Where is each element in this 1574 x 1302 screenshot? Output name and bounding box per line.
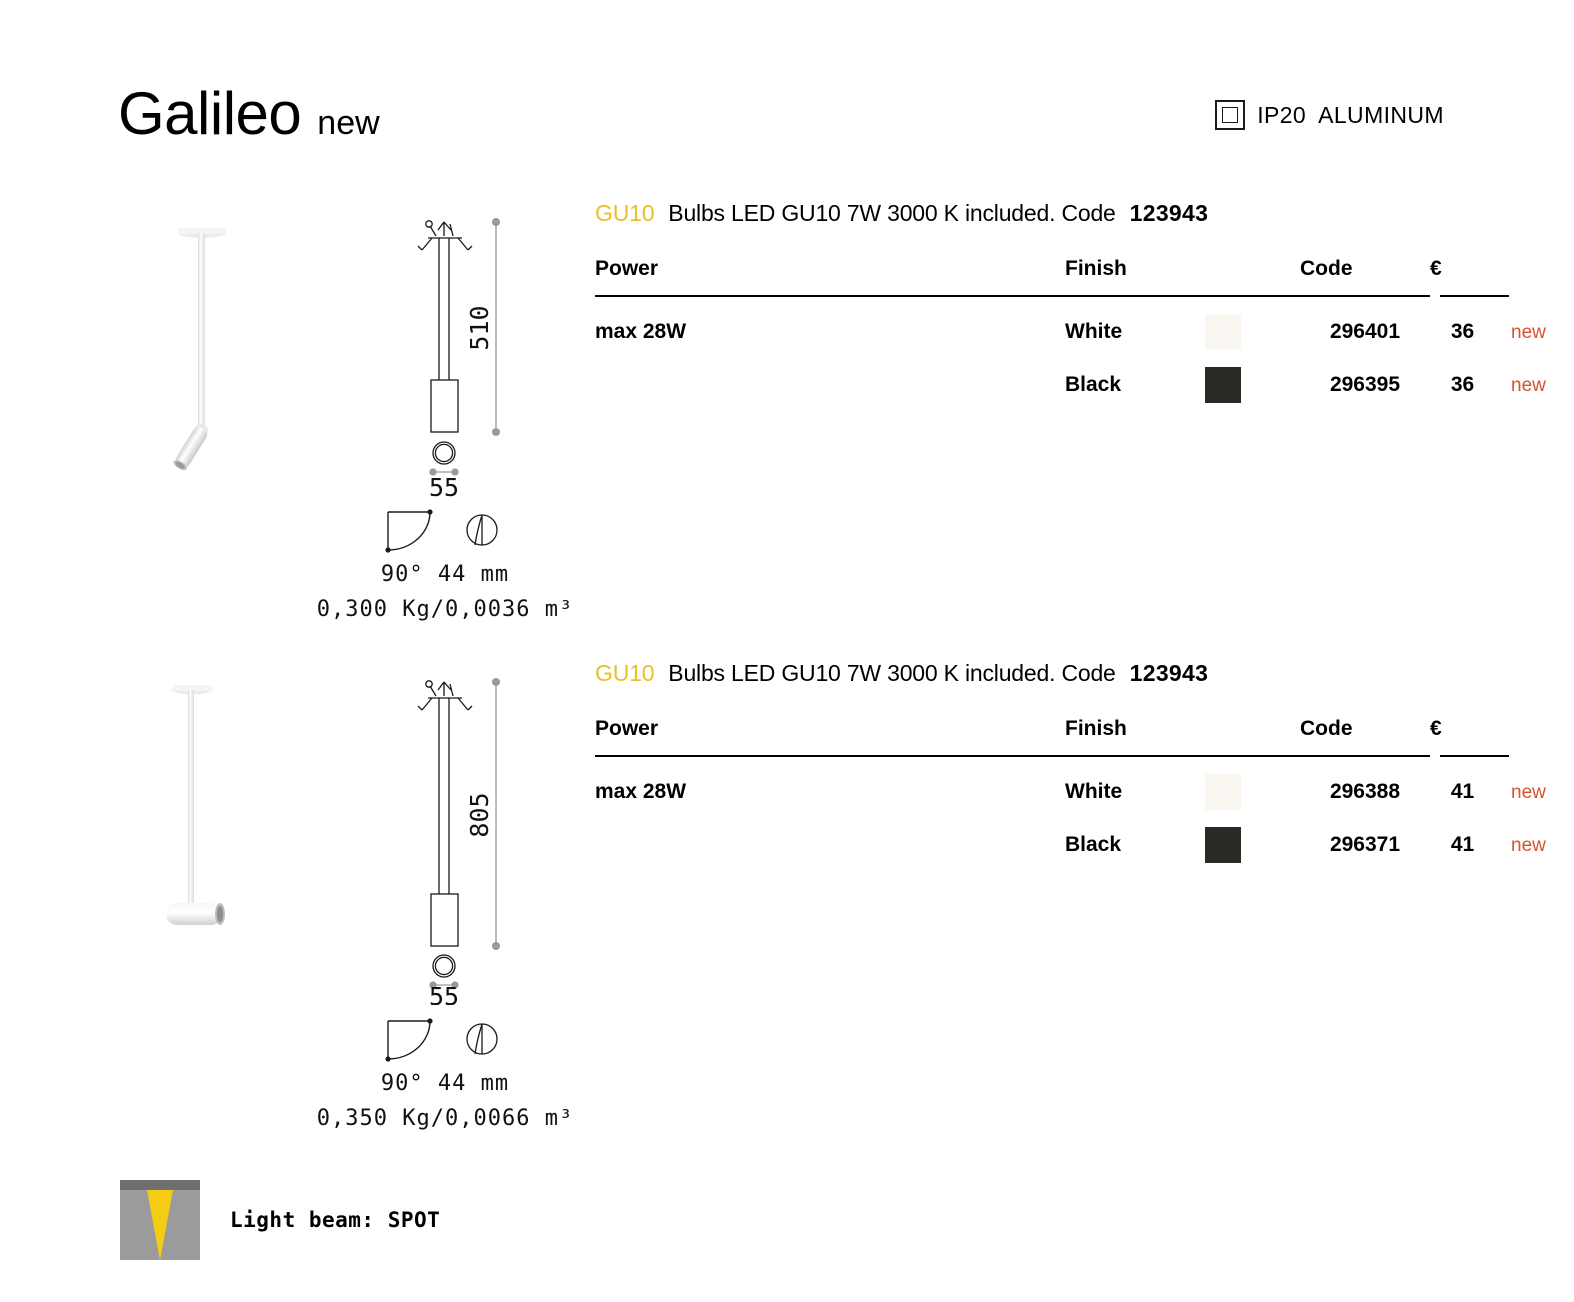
dimension-height-2: 805 [465, 792, 494, 837]
technical-drawing-1: 510 55 [310, 200, 580, 622]
cell-finish: Black [1065, 350, 1205, 403]
new-tag: new [1495, 375, 1546, 396]
cell-swatch [1205, 350, 1300, 403]
product-info-1: GU10 Bulbs LED GU10 7W 3000 K included. … [595, 200, 1495, 403]
spec-angle-line-2: 90° 44 mm [310, 1071, 580, 1096]
variants-table-2: Power Finish Code € max 28W White [595, 717, 1574, 863]
cell-swatch [1205, 810, 1300, 863]
col-header-swatch-spacer [1205, 717, 1300, 755]
col-header-price: € [1430, 717, 1495, 755]
new-badge: new [317, 106, 379, 140]
table-row[interactable]: max 28W White 296388 41 new [595, 757, 1574, 810]
dimension-height-1: 510 [465, 305, 494, 350]
cell-swatch [1205, 297, 1300, 350]
cell-code[interactable]: 296395 [1300, 350, 1430, 403]
technical-drawing-svg-2: 805 55 [310, 660, 580, 1005]
finish-swatch-white [1205, 314, 1241, 350]
light-beam-legend: Light beam: SPOT [120, 1180, 440, 1260]
cell-finish: Black [1065, 810, 1205, 863]
technical-drawing-svg-1: 510 55 [310, 200, 580, 500]
col-header-power: Power [595, 717, 1065, 755]
bulb-line-1: GU10 Bulbs LED GU10 7W 3000 K included. … [595, 200, 1495, 227]
square-in-square-icon [1215, 100, 1245, 130]
ip-rating-group: IP20 ALUMINUM [1215, 100, 1444, 130]
beam-angle-icon-2 [467, 1024, 497, 1054]
spec-weight-line-2: 0,350 Kg/0,0066 m³ [310, 1106, 580, 1131]
bulb-description-1: Bulbs LED GU10 7W 3000 K included. Code [668, 200, 1115, 227]
col-header-code: Code [1300, 257, 1430, 295]
cell-power [595, 350, 1065, 403]
technical-drawing-2: 805 55 [310, 660, 580, 1131]
dimension-diameter-2: 55 [429, 982, 459, 1005]
col-header-finish: Finish [1065, 717, 1205, 755]
variants-table-1: Power Finish Code € max 28W White [595, 257, 1574, 403]
spec-text-1: 90° 44 mm 0,300 Kg/0,0036 m³ [310, 562, 580, 622]
cell-new: new [1495, 297, 1574, 350]
col-header-code: Code [1300, 717, 1430, 755]
cell-price: 36 [1430, 297, 1495, 350]
spec-angle-line-1: 90° 44 mm [310, 562, 580, 587]
cell-code[interactable]: 296401 [1300, 297, 1430, 350]
col-header-swatch-spacer [1205, 257, 1300, 295]
bulb-socket-2: GU10 [595, 660, 654, 687]
bulb-description-2: Bulbs LED GU10 7W 3000 K included. Code [668, 660, 1115, 687]
table-row[interactable]: Black 296371 41 new [595, 810, 1574, 863]
page-title: Galileo [118, 84, 301, 144]
new-tag: new [1495, 322, 1546, 343]
col-header-price: € [1430, 257, 1495, 295]
cell-finish: White [1065, 757, 1205, 810]
angle-icons-1 [310, 502, 580, 562]
beam-angle-icon-1 [467, 515, 497, 545]
bulb-socket-1: GU10 [595, 200, 654, 227]
table-row[interactable]: Black 296395 36 new [595, 350, 1574, 403]
cell-new: new [1495, 757, 1574, 810]
col-header-finish: Finish [1065, 257, 1205, 295]
cell-price: 36 [1430, 350, 1495, 403]
cell-price: 41 [1430, 810, 1495, 863]
cell-swatch [1205, 757, 1300, 810]
cell-price: 41 [1430, 757, 1495, 810]
light-beam-spot-icon [120, 1180, 200, 1260]
dimension-diameter-1: 55 [429, 473, 459, 500]
cell-finish: White [1065, 297, 1205, 350]
table-row[interactable]: max 28W White 296401 36 new [595, 297, 1574, 350]
product-block-1: 510 55 [0, 200, 1574, 630]
cell-new: new [1495, 350, 1574, 403]
new-tag: new [1495, 835, 1546, 856]
cell-power [595, 810, 1065, 863]
finish-swatch-black [1205, 827, 1241, 863]
table-header-row-1: Power Finish Code € [595, 257, 1574, 295]
bulb-code-1: 123943 [1130, 200, 1209, 227]
product-info-2: GU10 Bulbs LED GU10 7W 3000 K included. … [595, 660, 1495, 863]
new-tag: new [1495, 782, 1546, 803]
col-header-new-spacer [1495, 717, 1574, 755]
cell-code[interactable]: 296371 [1300, 810, 1430, 863]
col-header-new-spacer [1495, 257, 1574, 295]
bulb-line-2: GU10 Bulbs LED GU10 7W 3000 K included. … [595, 660, 1495, 687]
product-block-2: 805 55 [0, 660, 1574, 1150]
cell-new: new [1495, 810, 1574, 863]
finish-swatch-black [1205, 367, 1241, 403]
material-label: ALUMINUM [1318, 102, 1444, 129]
page-header: Galileo new IP20 ALUMINUM [0, 0, 1574, 180]
cell-code[interactable]: 296388 [1300, 757, 1430, 810]
light-beam-label: Light beam: SPOT [230, 1208, 440, 1232]
bulb-code-2: 123943 [1130, 660, 1209, 687]
angle-icons-2 [310, 1011, 580, 1071]
title-group: Galileo new [118, 84, 380, 144]
spec-weight-line-1: 0,300 Kg/0,0036 m³ [310, 597, 580, 622]
cell-power: max 28W [595, 297, 1065, 350]
cell-power: max 28W [595, 757, 1065, 810]
ip-rating-label: IP20 [1257, 102, 1306, 129]
spec-text-2: 90° 44 mm 0,350 Kg/0,0066 m³ [310, 1071, 580, 1131]
table-header-row-2: Power Finish Code € [595, 717, 1574, 755]
finish-swatch-white [1205, 774, 1241, 810]
col-header-power: Power [595, 257, 1065, 295]
